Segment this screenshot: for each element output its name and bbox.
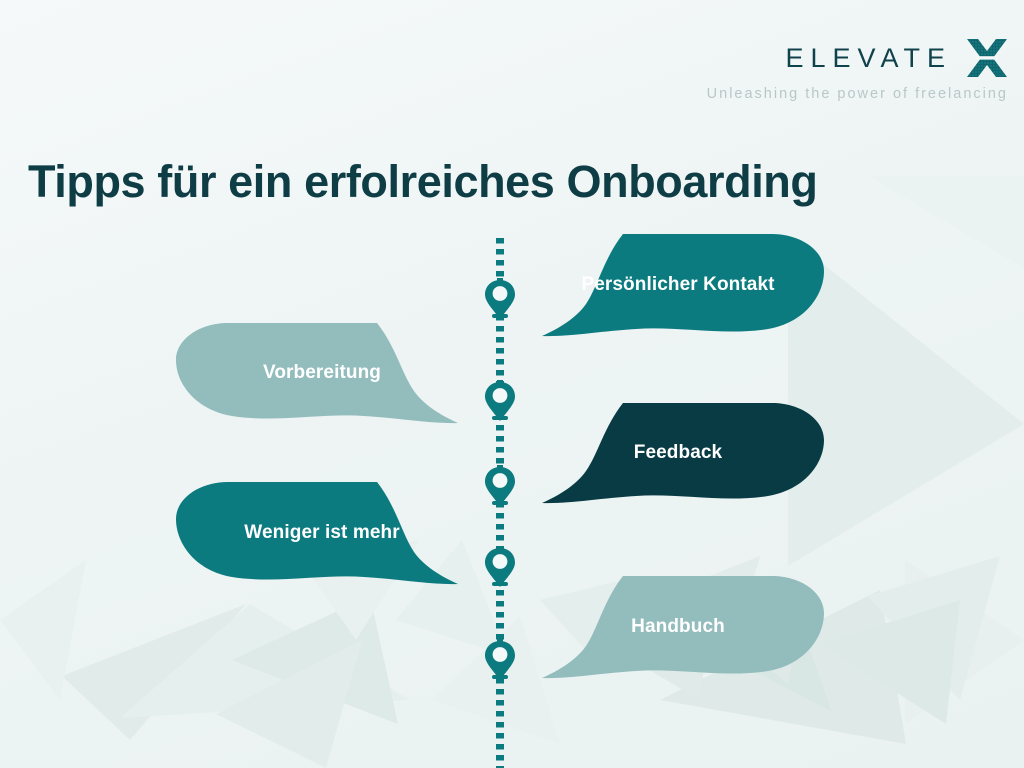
timeline-pin-3	[484, 465, 516, 507]
logo-row: ELEVATE	[707, 38, 1008, 78]
bubble-persoenlicher-kontakt[interactable]: Persönlicher Kontakt	[528, 230, 828, 340]
logo-x-icon	[966, 38, 1008, 78]
bubble-feedback[interactable]: Feedback	[528, 400, 828, 506]
timeline-pin-2	[484, 380, 516, 422]
slide-canvas: ELEVATE Unleashing the power of freelanc…	[0, 0, 1024, 768]
page-title: Tipps für ein erfolreiches Onboarding	[28, 158, 1003, 205]
timeline-pin-5	[484, 639, 516, 681]
bubble-vorbereitung[interactable]: Vorbereitung	[172, 320, 472, 426]
bubble-label: Feedback	[620, 441, 736, 465]
bubble-weniger-ist-mehr[interactable]: Weniger ist mehr	[172, 478, 472, 588]
logo-wordmark: ELEVATE	[785, 45, 952, 72]
bubble-label: Persönlicher Kontakt	[567, 273, 788, 297]
bubble-label: Weniger ist mehr	[230, 521, 413, 545]
timeline-pin-4	[484, 546, 516, 588]
bubble-label: Vorbereitung	[249, 361, 395, 385]
timeline	[496, 238, 504, 768]
bubble-label: Handbuch	[617, 615, 739, 639]
bubble-handbuch[interactable]: Handbuch	[528, 572, 828, 682]
timeline-pin-1	[484, 278, 516, 320]
logo-tagline: Unleashing the power of freelancing	[707, 87, 1008, 102]
brand-logo: ELEVATE Unleashing the power of freelanc…	[707, 38, 1008, 102]
